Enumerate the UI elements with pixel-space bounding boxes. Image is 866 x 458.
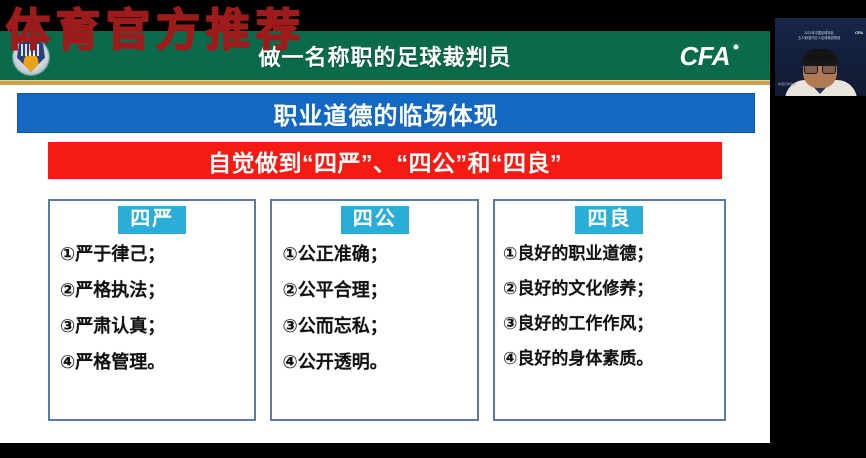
presenter-video-feed[interactable]: 2021年中国足球协会 五人制/室内五人足球竞赛规则 CFA 中国足球协会	[774, 18, 866, 96]
content-box-group: 四严 ①严于律己； ②严格执法； ③严肃认真； ④严格管理。 四公 ①公正准确；…	[48, 199, 726, 421]
soccer-ball-icon	[732, 43, 740, 51]
header-gold-divider	[0, 81, 770, 85]
content-box-siyan: 四严 ①严于律己； ②严格执法； ③严肃认真； ④严格管理。	[48, 199, 256, 421]
list-item: ④严格管理。	[50, 353, 254, 371]
list-item: ③公而忘私；	[272, 317, 476, 335]
video-bottom-label: 中国足球协会	[778, 82, 796, 86]
presenter-glasses-icon	[804, 63, 836, 72]
box-chip-label: 四公	[341, 206, 409, 234]
list-item: ④良好的身体素质。	[495, 350, 724, 367]
list-item: ③严肃认真；	[50, 317, 254, 335]
box-item-list: ①公正准确； ②公平合理； ③公而忘私； ④公开透明。	[272, 231, 476, 371]
list-item: ②公平合理；	[272, 281, 476, 299]
list-item: ②良好的文化修养；	[495, 280, 724, 297]
screen: 做一名称职的足球裁判员 CFA 职业道德的临场体现 自觉做到“四严”、“四公”和…	[0, 0, 866, 458]
cfa-brand-text: CFA	[680, 41, 731, 72]
video-overlay-line2: 五人制/室内五人足球竞赛规则	[793, 36, 845, 41]
slide-header-title: 做一名称职的足球裁判员	[0, 31, 770, 81]
box-item-list: ①良好的职业道德； ②良好的文化修养； ③良好的工作作风； ④良好的身体素质。	[495, 231, 724, 367]
blue-title-banner: 职业道德的临场体现	[17, 93, 755, 133]
list-item: ①良好的职业道德；	[495, 245, 724, 262]
box-item-list: ①严于律己； ②严格执法； ③严肃认真； ④严格管理。	[50, 231, 254, 371]
box-chip-label: 四严	[118, 206, 186, 234]
letterbox-bottom	[0, 443, 866, 458]
box-chip-label: 四良	[575, 206, 643, 234]
list-item: ①严于律己；	[50, 245, 254, 263]
list-item: ①公正准确；	[272, 245, 476, 263]
content-box-sigong: 四公 ①公正准确； ②公平合理； ③公而忘私； ④公开透明。	[270, 199, 478, 421]
list-item: ③良好的工作作风；	[495, 315, 724, 332]
list-item: ④公开透明。	[272, 353, 476, 371]
presentation-slide: 做一名称职的足球裁判员 CFA 职业道德的临场体现 自觉做到“四严”、“四公”和…	[0, 31, 770, 443]
list-item: ②严格执法；	[50, 281, 254, 299]
video-corner-brand: CFA	[855, 30, 863, 35]
video-overlay-text: 2021年中国足球协会 五人制/室内五人足球竞赛规则	[793, 31, 845, 40]
letterbox-top	[0, 0, 770, 31]
content-box-siliang: 四良 ①良好的职业道德； ②良好的文化修养； ③良好的工作作风； ④良好的身体素…	[493, 199, 726, 421]
red-subtitle-banner: 自觉做到“四严”、“四公”和“四良”	[48, 142, 722, 179]
cfa-brand-logo: CFA	[680, 31, 741, 81]
